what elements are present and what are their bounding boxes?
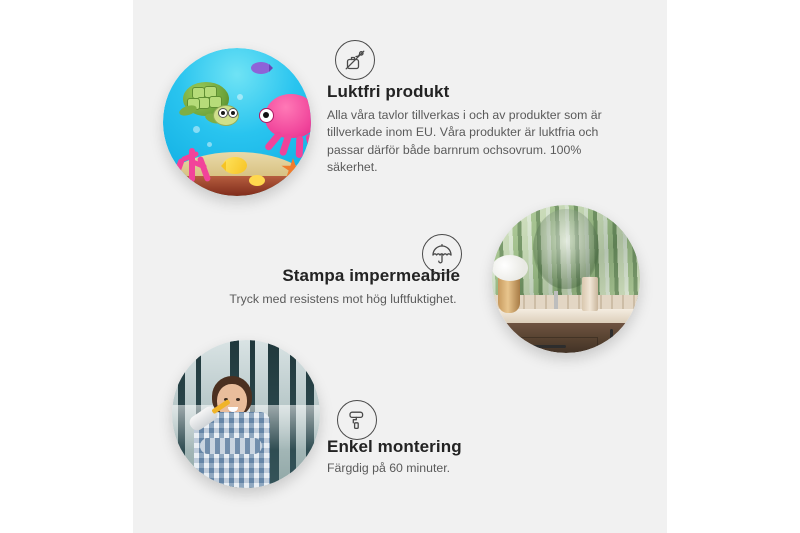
feature-text-waterproof: Stampa impermeabile Tryck med resistens … [218,266,468,308]
turtle-illustration [179,82,235,124]
bathroom-botanical-wallpaper-circle-photo [492,205,640,353]
paint-roller-icon [337,400,377,440]
wood-vanity [492,323,640,353]
faucet-icon [554,291,558,309]
fish-illustration [223,157,247,174]
bubble-icon [193,126,200,133]
feature-description: Alla våra tavlor tillverkas i och av pro… [327,107,627,177]
feature-text-easy-installation: Enkel montering Färgdig på 60 minuter. [327,437,587,477]
soap-dispenser [582,277,598,311]
feature-description: Färgdig på 60 minuter. [327,460,587,477]
feature-title: Luktfri produkt [327,82,627,102]
bubble-icon [237,94,243,100]
fish-illustration [249,175,265,186]
page-root: Luktfri produkt Alla våra tavlor tillver… [0,0,800,533]
feature-text-odour-free: Luktfri produkt Alla våra tavlor tillver… [327,82,627,177]
coral-illustration [171,142,215,182]
white-flowers [492,255,528,281]
feature-description: Tryck med resistens mot hög luftfuktighe… [218,291,468,308]
fish-illustration [251,62,271,74]
underwater-cartoon-circle-photo [163,48,311,196]
woman-illustration [190,376,274,488]
painter-woman-forest-circle-photo [172,340,320,488]
feature-title: Stampa impermeabile [218,266,468,286]
feature-title: Enkel montering [327,437,587,457]
no-odour-spray-icon [335,40,375,80]
octopus-illustration [251,94,311,156]
